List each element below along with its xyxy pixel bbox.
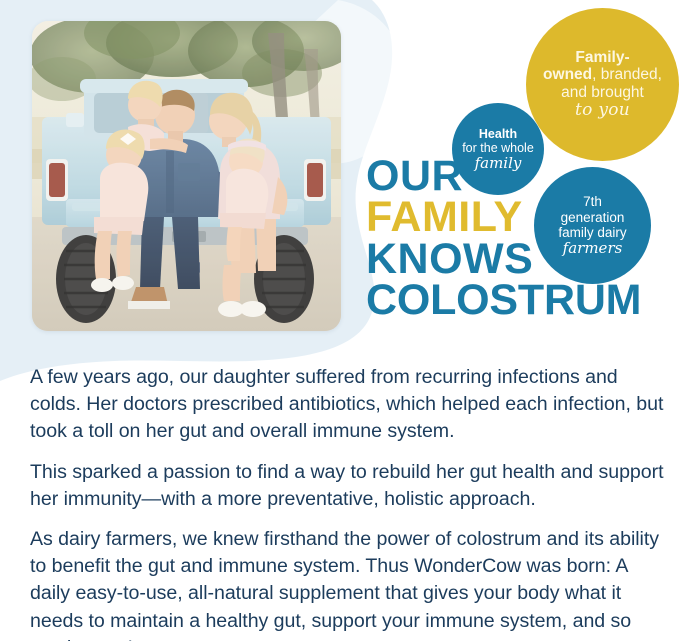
health-badge-line-3-script: family [462, 155, 534, 172]
family-owned-badge: Family- owned, branded, and brought to y… [526, 8, 679, 161]
health-badge-line-2: for the whole [462, 141, 534, 155]
family-owned-badge-text: Family- owned, branded, and brought to y… [536, 49, 669, 120]
marketing-image: OUR FAMILY KNOWS COLOSTRUM Family- owned… [0, 0, 679, 641]
generation-badge-line-3: family dairy [558, 225, 626, 240]
generation-badge-line-4-script: farmers [558, 240, 626, 257]
body-paragraph-2: This sparked a passion to find a way to … [30, 459, 666, 513]
health-badge-text: Health for the whole family [462, 127, 534, 172]
body-paragraph-1: A few years ago, our daughter suffered f… [30, 364, 666, 446]
badge-line-4-script: to you [543, 101, 662, 120]
health-badge: Health for the whole family [452, 103, 544, 195]
body-copy: A few years ago, our daughter suffered f… [30, 364, 666, 641]
badge-line-3: and brought [543, 84, 662, 101]
generation-badge-line-2: generation [558, 210, 626, 225]
health-badge-line-1: Health [462, 127, 534, 141]
generation-badge-line-1: 7th [558, 194, 626, 209]
generation-badge-text: 7th generation family dairy farmers [558, 194, 626, 256]
family-photo [32, 21, 341, 331]
generation-badge: 7th generation family dairy farmers [534, 167, 651, 284]
headline-line-colostrum: COLOSTRUM [366, 280, 666, 321]
body-paragraph-3: As dairy farmers, we knew firsthand the … [30, 526, 666, 641]
badge-line-1: Family- [543, 49, 662, 66]
badge-line-2: owned, branded, [543, 66, 662, 83]
